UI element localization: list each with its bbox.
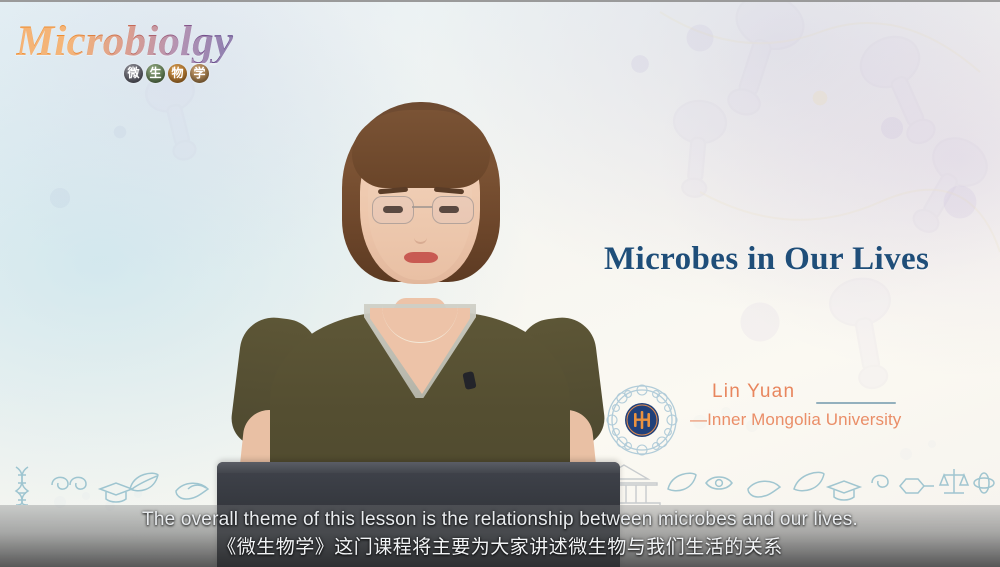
subtitle-container: The overall theme of this lesson is the … — [0, 507, 1000, 561]
presenter-fringe — [352, 110, 490, 188]
presenter-glasses — [370, 196, 474, 226]
logo-char-1: 微 — [124, 64, 143, 83]
presenter-organization: —Inner Mongolia University — [690, 410, 901, 430]
logo-wordmark: Microbiolgy — [16, 20, 266, 63]
logo-char-3: 物 — [168, 64, 187, 83]
presenter-lips — [404, 252, 438, 263]
presenter-nose — [414, 230, 427, 244]
logo-char-4: 学 — [190, 64, 209, 83]
slide-title: Microbes in Our Lives — [604, 241, 929, 278]
subtitle-english: The overall theme of this lesson is the … — [0, 507, 1000, 533]
presenter-name: Lin Yuan — [712, 381, 795, 403]
glasses-lens-left — [372, 196, 414, 224]
presenter-figure — [218, 80, 618, 500]
logo-chinese-chars: 微 生 物 学 — [124, 64, 209, 83]
video-player-frame: Microbiolgy 微 生 物 学 Microbes in Our Live… — [0, 0, 1000, 567]
glasses-lens-right — [432, 196, 474, 224]
subtitle-chinese: 《微生物学》这门课程将主要为大家讲述微生物与我们生活的关系 — [0, 533, 1000, 561]
glasses-bridge — [412, 206, 432, 208]
logo-char-2: 生 — [146, 64, 165, 83]
presenter-name-rule — [816, 402, 896, 404]
presenter-credit-block: Lin Yuan —Inner Mongolia University — [606, 384, 906, 456]
course-logo: Microbiolgy 微 生 物 学 — [16, 20, 266, 82]
